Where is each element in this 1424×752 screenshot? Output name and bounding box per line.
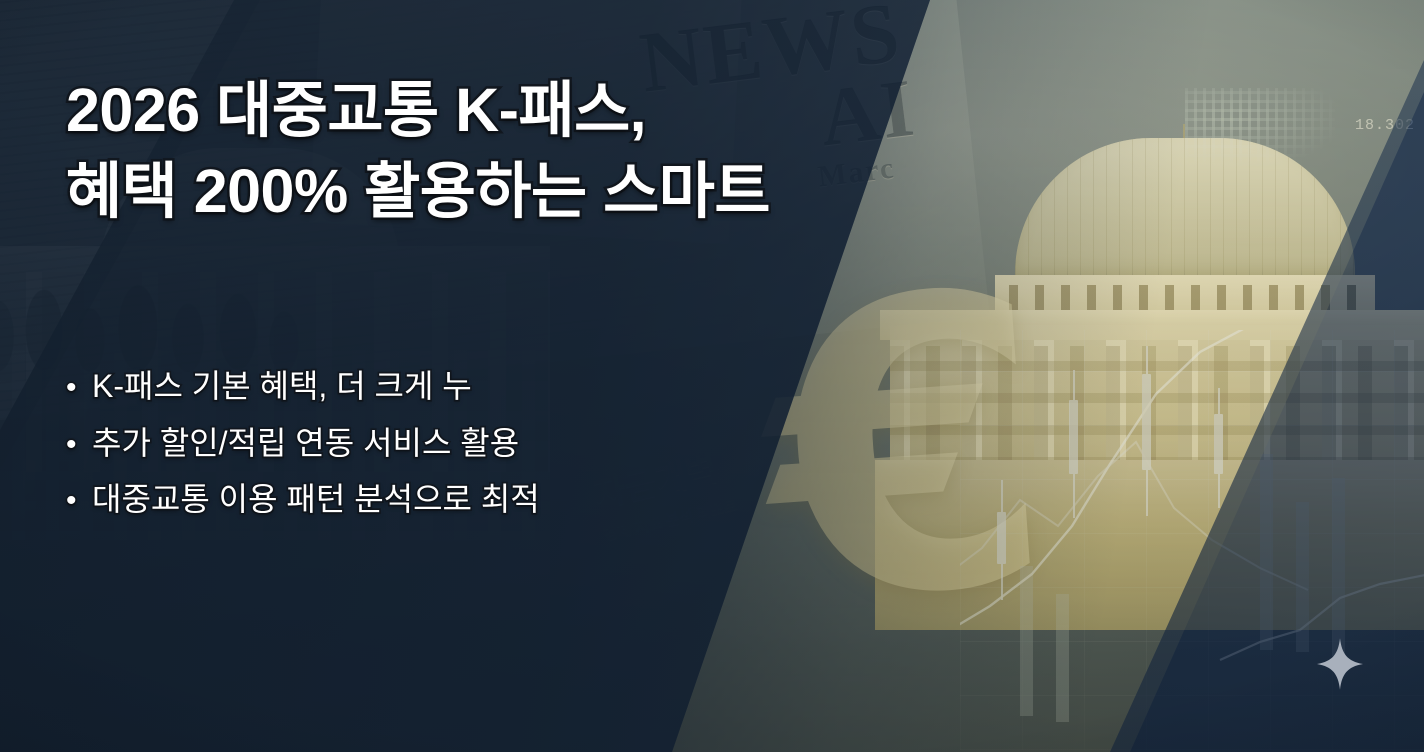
promo-banner: NEWS AI Marc 자금개벽 경제 지표 분석 리포트 €: [0, 0, 1424, 752]
bullet-item: 대중교통 이용 패턴 분석으로 최적: [66, 471, 766, 528]
headline-line-2: 혜택 200% 활용하는 스마트: [66, 151, 966, 232]
bullet-item: K-패스 기본 혜택, 더 크게 누: [66, 358, 766, 415]
sparkle-icon: [1317, 638, 1363, 690]
banner-content: 2026 대중교통 K-패스, 혜택 200% 활용하는 스마트 K-패스 기본…: [0, 0, 1424, 752]
banner-headline: 2026 대중교통 K-패스, 혜택 200% 활용하는 스마트: [66, 70, 966, 232]
bullet-item: 추가 할인/적립 연동 서비스 활용: [66, 415, 766, 472]
benefit-bullet-list: K-패스 기본 혜택, 더 크게 누 추가 할인/적립 연동 서비스 활용 대중…: [66, 358, 766, 528]
headline-line-1: 2026 대중교통 K-패스,: [66, 70, 966, 151]
